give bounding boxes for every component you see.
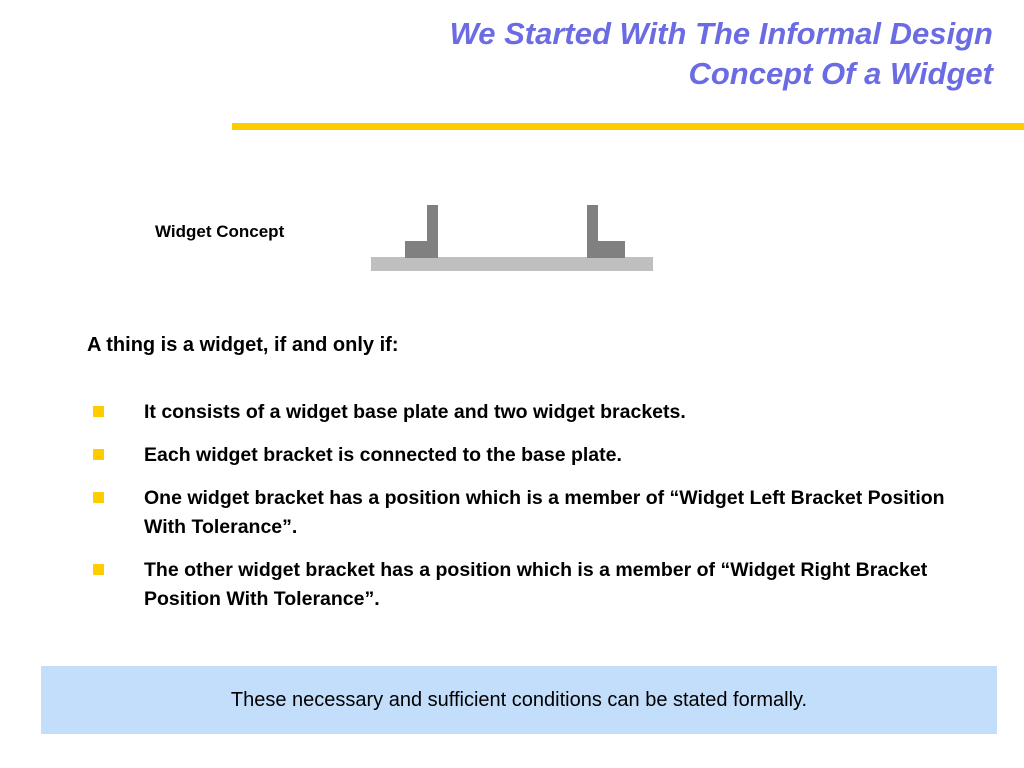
widget-concept-label: Widget Concept <box>155 222 284 242</box>
summary-banner-text: These necessary and sufficient condition… <box>231 689 807 712</box>
list-item: The other widget bracket has a position … <box>87 556 967 614</box>
list-item: One widget bracket has a position which … <box>87 484 967 542</box>
title-divider-rule <box>232 123 1024 130</box>
summary-banner: These necessary and sufficient condition… <box>41 666 997 734</box>
page-title: We Started With The Informal Design Conc… <box>232 14 993 94</box>
widget-diagram <box>371 200 653 272</box>
definition-lead-in: A thing is a widget, if and only if: <box>87 334 398 357</box>
square-bullet-icon <box>93 492 104 503</box>
list-item-text: The other widget bracket has a position … <box>144 556 967 614</box>
widget-base-plate-shape <box>371 257 653 271</box>
list-item: Each widget bracket is connected to the … <box>87 441 967 470</box>
square-bullet-icon <box>93 449 104 460</box>
widget-left-bracket-foot-shape <box>405 241 438 258</box>
square-bullet-icon <box>93 406 104 417</box>
slide-root: We Started With The Informal Design Conc… <box>0 0 1024 768</box>
conditions-list: It consists of a widget base plate and t… <box>87 398 967 628</box>
list-item-text: It consists of a widget base plate and t… <box>144 398 967 427</box>
list-item-text: Each widget bracket is connected to the … <box>144 441 967 470</box>
page-title-line-1: We Started With The Informal Design <box>232 14 993 54</box>
page-title-line-2: Concept Of a Widget <box>232 54 993 94</box>
list-item: It consists of a widget base plate and t… <box>87 398 967 427</box>
square-bullet-icon <box>93 564 104 575</box>
widget-right-bracket-foot-shape <box>587 241 625 258</box>
list-item-text: One widget bracket has a position which … <box>144 484 967 542</box>
